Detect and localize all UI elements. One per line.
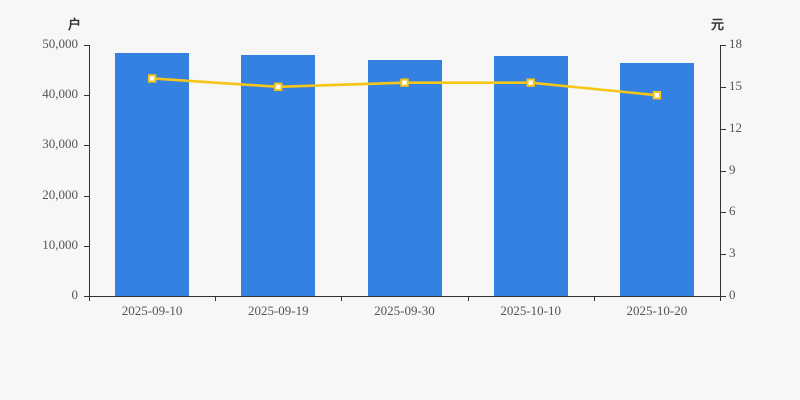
plot-area: 2025-09-10: 15.6元2025-09-19: 15元2025-09-… (89, 45, 720, 296)
x-axis-tick (341, 296, 342, 301)
right-axis-title: 元 (711, 14, 724, 33)
line-marker[interactable]: 2025-09-10: 15.6元 (149, 75, 155, 81)
right-axis-tick-label: 9 (729, 162, 736, 178)
line-series: 2025-09-10: 15.6元2025-09-19: 15元2025-09-… (89, 45, 720, 296)
x-axis-tick (89, 296, 90, 301)
line-marker[interactable]: 2025-10-20: 14.4元 (654, 92, 660, 98)
line-marker[interactable]: 2025-09-19: 15元 (275, 84, 281, 90)
left-axis-title: 户 (68, 14, 81, 33)
x-axis-tick-label: 2025-10-10 (468, 303, 594, 319)
left-axis-tick-label: 40,000 (42, 86, 78, 102)
x-axis-tick-label: 2025-09-10 (89, 303, 215, 319)
right-axis-tick (721, 45, 726, 46)
right-axis-tick (721, 296, 726, 297)
left-axis-tick-label: 50,000 (42, 36, 78, 52)
right-axis-tick-label: 15 (729, 78, 742, 94)
line-marker[interactable]: 2025-09-30: 15.3元 (401, 79, 407, 85)
x-axis-tick-label: 2025-09-30 (341, 303, 467, 319)
right-axis-tick-label: 12 (729, 120, 742, 136)
x-axis-tick (720, 296, 721, 301)
right-axis-tick (721, 87, 726, 88)
right-axis-tick-label: 6 (729, 203, 736, 219)
right-axis-tick (721, 171, 726, 172)
left-axis-tick-label: 30,000 (42, 136, 78, 152)
x-axis-tick-label: 2025-10-20 (594, 303, 720, 319)
right-axis-tick (721, 254, 726, 255)
left-axis-tick-label: 20,000 (42, 187, 78, 203)
left-axis-tick-label: 10,000 (42, 237, 78, 253)
line-marker[interactable]: 2025-10-10: 15.3元 (528, 79, 534, 85)
x-axis-tick-label: 2025-09-19 (215, 303, 341, 319)
right-axis-tick (721, 129, 726, 130)
left-axis-tick-label: 0 (72, 287, 79, 303)
x-axis-line (89, 296, 721, 297)
right-axis-tick (721, 212, 726, 213)
right-axis-tick-label: 3 (729, 245, 736, 261)
x-axis-tick (468, 296, 469, 301)
x-axis-tick (215, 296, 216, 301)
right-axis-tick-label: 0 (729, 287, 736, 303)
x-axis-tick (594, 296, 595, 301)
chart-container: 户 元 010,00020,00030,00040,00050,000 0369… (0, 0, 800, 400)
right-axis-tick-label: 18 (729, 36, 742, 52)
